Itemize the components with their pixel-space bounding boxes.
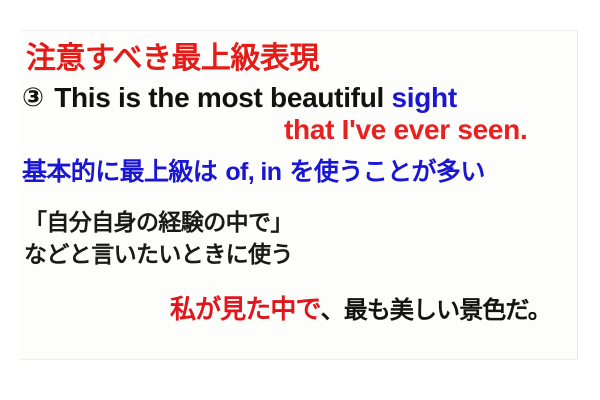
english-example-line-1: ③ This is the most beautiful sight	[22, 82, 457, 114]
usage-note-line-2: などと言いたいときに使う	[24, 235, 293, 269]
grammar-rule-prefix: 基本的に最上級は	[22, 157, 225, 186]
keyword-sight: sight	[391, 82, 456, 113]
english-example-line-2: that I've ever seen.	[284, 114, 527, 146]
slide-root: 注意すべき最上級表現 ③ This is the most beautiful …	[0, 0, 600, 400]
grammar-rule-line: 基本的に最上級は of, in を使うことが多い	[22, 152, 485, 188]
japanese-translation: 私が見た中で、最も美しい景色だ。	[170, 289, 551, 326]
english-example-text: This is the most beautiful	[47, 82, 392, 113]
item-number-circled-3: ③	[22, 82, 44, 112]
usage-note-line-1: 「自分自身の経験の中で」	[24, 203, 293, 237]
grammar-rule-suffix: を使うことが多い	[281, 157, 484, 186]
grammar-rule-prepositions: of, in	[225, 158, 281, 186]
translation-red-part: 私が見た中で	[170, 295, 321, 325]
slide-title: 注意すべき最上級表現	[26, 33, 319, 77]
translation-black-part: 、最も美しい景色だ。	[321, 296, 551, 324]
